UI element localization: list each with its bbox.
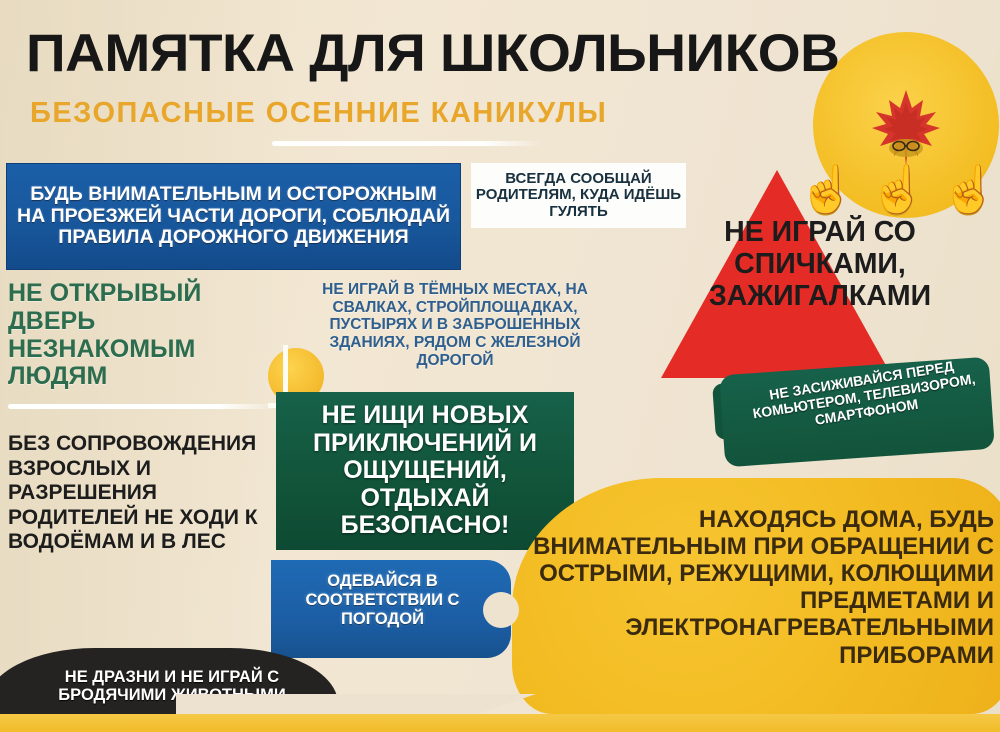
page-subtitle: БЕЗОПАСНЫЕ ОСЕННИЕ КАНИКУЛЫ: [30, 97, 830, 130]
divider-top: [272, 141, 542, 146]
tip-card-road-safety: БУДЬ ВНИМАТЕЛЬНЫМ И ОСТОРОЖНЫМ НА ПРОЕЗЖ…: [6, 163, 461, 270]
divider-middle: [8, 404, 278, 409]
poster-canvas: ☝ ☝ ☝ ПАМЯТКА ДЛЯ ШКОЛЬНИКОВ БЕЗОПАСНЫЕ …: [0, 0, 1000, 732]
page-title: ПАМЯТКА ДЛЯ ШКОЛЬНИКОВ: [26, 23, 1000, 84]
tip-text-road-safety: БУДЬ ВНИМАТЕЛЬНЫМ И ОСТОРОЖНЫМ НА ПРОЕЗЖ…: [15, 184, 452, 249]
pointing-up-hand-icon: ☝: [941, 166, 998, 212]
tip-text-home-safety: НАХОДЯСЬ ДОМА, БУДЬ ВНИМАТЕЛЬНЫМ ПРИ ОБР…: [520, 506, 998, 669]
tip-text-weather: ОДЕВАЙСЯ В СООТВЕТСТВИИ С ПОГОДОЙ: [275, 572, 490, 628]
tip-text-stranger-door: НЕ ОТКРЫВЫЙ ДВЕРЬ НЕЗНАКОМЫМ ЛЮДЯМ: [8, 280, 268, 391]
bottom-accent-bar: [0, 714, 1000, 732]
tip-text-water-forest: БЕЗ СОПРОВОЖДЕНИЯ ВЗРОСЛЫХ И РАЗРЕШЕНИЯ …: [8, 432, 278, 555]
tip-text-matches: НЕ ИГРАЙ СО СПИЧКАМИ, ЗАЖИГАЛКАМИ: [640, 216, 1000, 313]
tip-text-dark-places: НЕ ИГРАЙ В ТЁМНЫХ МЕСТАХ, НА СВАЛКАХ, СТ…: [290, 281, 620, 369]
tip-text-tell-parents: ВСЕГДА СООБЩАЙ РОДИТЕЛЯМ, КУДА ИДЁШЬ ГУЛ…: [475, 171, 682, 220]
